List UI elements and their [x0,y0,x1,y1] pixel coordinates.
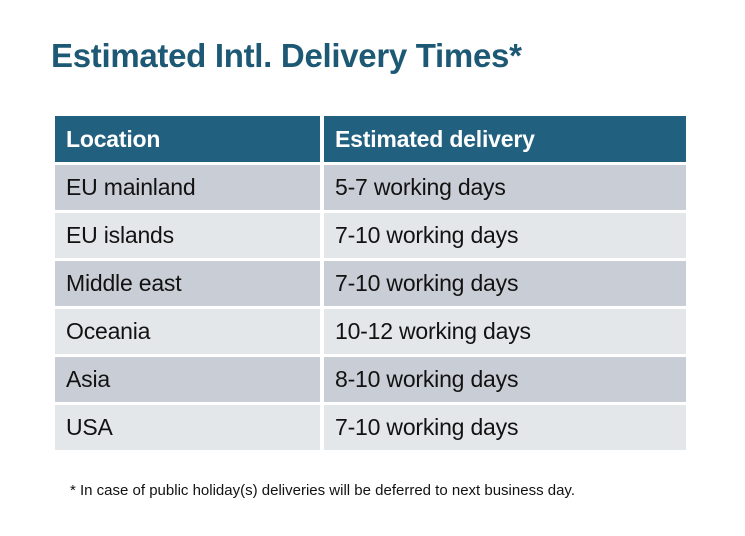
table-header: Location Estimated delivery [55,116,686,162]
table-row: EU mainland 5-7 working days [55,165,686,210]
cell-location: Middle east [55,261,320,306]
footnote-text: * In case of public holiday(s) deliverie… [70,481,575,501]
cell-location: EU mainland [55,165,320,210]
page-title: Estimated Intl. Delivery Times* [51,36,522,76]
table-row: USA 7-10 working days [55,405,686,450]
cell-delivery: 7-10 working days [324,213,686,258]
table-row: Oceania 10-12 working days [55,309,686,354]
cell-delivery: 8-10 working days [324,357,686,402]
table-body: EU mainland 5-7 working days EU islands … [55,165,686,450]
table-header-row: Location Estimated delivery [55,116,686,162]
cell-delivery: 5-7 working days [324,165,686,210]
cell-location: Oceania [55,309,320,354]
table-row: EU islands 7-10 working days [55,213,686,258]
column-header-estimated-delivery: Estimated delivery [324,116,686,162]
delivery-times-page: Estimated Intl. Delivery Times* Location… [0,0,745,536]
cell-location: USA [55,405,320,450]
cell-delivery: 7-10 working days [324,261,686,306]
cell-delivery: 7-10 working days [324,405,686,450]
cell-location: EU islands [55,213,320,258]
delivery-times-table: Location Estimated delivery EU mainland … [51,113,690,453]
cell-location: Asia [55,357,320,402]
table-row: Asia 8-10 working days [55,357,686,402]
table-row: Middle east 7-10 working days [55,261,686,306]
column-header-location: Location [55,116,320,162]
cell-delivery: 10-12 working days [324,309,686,354]
